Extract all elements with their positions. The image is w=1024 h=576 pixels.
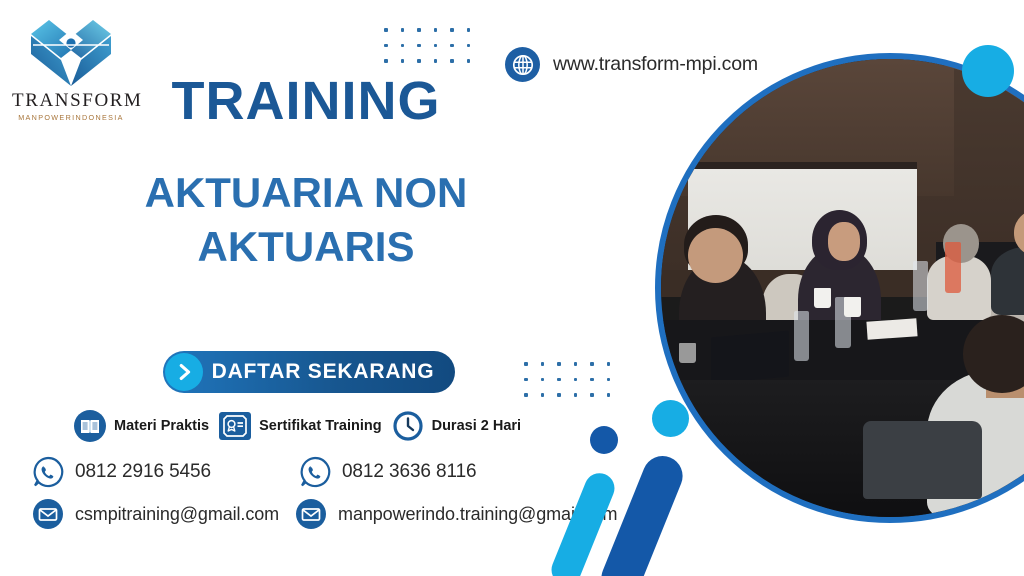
page-subtitle: AKTUARIA NON AKTUARIS [0, 166, 612, 274]
decor-dot [590, 426, 618, 454]
register-button[interactable]: DAFTAR SEKARANG [163, 351, 455, 393]
envelope-icon [295, 498, 327, 530]
dot-grid-middle [524, 362, 610, 397]
feature-item-durasi: Durasi 2 Hari [392, 410, 521, 442]
phone-contacts: 0812 2916 5456 0812 3636 8116 [32, 456, 477, 488]
feature-label: Durasi 2 Hari [432, 418, 521, 434]
email-contact-1[interactable]: csmpitraining@gmail.com [32, 498, 279, 530]
email-contacts: csmpitraining@gmail.com manpowerindo.tra… [32, 498, 617, 530]
whatsapp-icon [32, 456, 64, 488]
whatsapp-icon [299, 456, 331, 488]
envelope-icon [32, 498, 64, 530]
feature-label: Materi Praktis [114, 418, 209, 434]
feature-item-sertifikat: Sertifikat Training [219, 410, 381, 442]
page-subtitle-line2: AKTUARIS [0, 220, 612, 274]
feature-item-materi: Materi Praktis [74, 410, 209, 442]
chevron-right-icon [165, 353, 203, 391]
phone-number: 0812 2916 5456 [75, 461, 211, 483]
certificate-icon [219, 410, 251, 442]
phone-contact-1[interactable]: 0812 2916 5456 [32, 456, 211, 488]
globe-icon [505, 47, 540, 82]
flyer-canvas: TRANSFORM MANPOWERINDONESIA TRAINING AKT… [0, 0, 1024, 576]
feature-label: Sertifikat Training [259, 418, 381, 434]
training-photo [655, 53, 1024, 523]
page-subtitle-line1: AKTUARIA NON [0, 166, 612, 220]
page-title: TRAINING [0, 74, 612, 128]
dot-grid-top [384, 28, 470, 63]
training-photo-scene [661, 59, 1024, 517]
phone-contact-2[interactable]: 0812 3636 8116 [299, 456, 477, 488]
decor-cyan-circle [962, 45, 1014, 97]
register-button-label: DAFTAR SEKARANG [203, 360, 455, 384]
phone-number: 0812 3636 8116 [342, 461, 477, 483]
email-address: csmpitraining@gmail.com [75, 504, 279, 525]
open-book-icon [74, 410, 106, 442]
clock-icon [392, 410, 424, 442]
feature-list: Materi Praktis Sertifikat Training Duras… [74, 410, 521, 442]
